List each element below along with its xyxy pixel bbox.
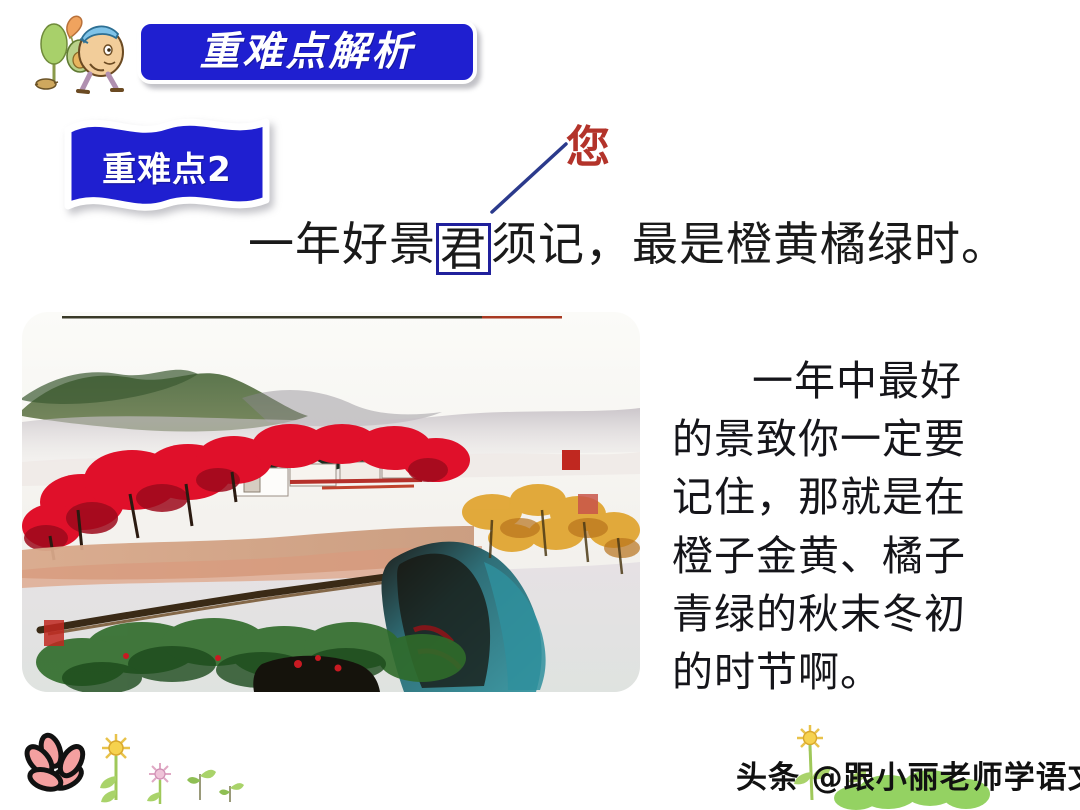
- flower-cluster-icon: [18, 718, 248, 804]
- watermark-text: 头条 @跟小丽老师学语文: [736, 752, 1080, 797]
- section-title-banner: 重难点解析: [137, 20, 477, 84]
- explanation-line: 的时节啊。: [672, 643, 1032, 701]
- poem-line: 一年好景君须记，最是橙黄橘绿时。: [248, 218, 1008, 275]
- poem-highlighted-character: 君: [436, 223, 491, 275]
- explanation-line: 的景致你一定要: [672, 410, 1032, 468]
- subsection-flag-banner: 重难点2: [62, 112, 272, 216]
- explanation-line: 记住，那就是在: [672, 468, 1032, 526]
- slide-canvas: 重难点解析 重难点2 您 一年好景君须记，最是橙黄橘绿时。: [0, 0, 1080, 810]
- explanation-line: 一年中最好: [672, 352, 1032, 410]
- poem-before-text: 一年好景: [248, 217, 436, 271]
- walking-egg-character-icon: [24, 8, 134, 100]
- section-title-label: 重难点解析: [200, 32, 415, 72]
- explanation-line: 橙子金黄、橘子: [672, 527, 1032, 585]
- red-seal-top-right: [562, 450, 580, 470]
- subsection-flag-label: 重难点2: [62, 112, 272, 216]
- annotation-word: 您: [566, 126, 610, 170]
- poem-after-text: 须记，最是橙黄橘绿时。: [491, 217, 1008, 271]
- red-seal-bottom-left: [44, 620, 64, 646]
- explanation-text: 一年中最好 的景致你一定要 记住，那就是在 橙子金黄、橘子 青绿的秋末冬初 的时…: [672, 352, 1032, 701]
- chinese-ink-landscape-painting: [22, 312, 640, 692]
- explanation-line: 青绿的秋末冬初: [672, 585, 1032, 643]
- red-seal-mid-right: [578, 494, 598, 514]
